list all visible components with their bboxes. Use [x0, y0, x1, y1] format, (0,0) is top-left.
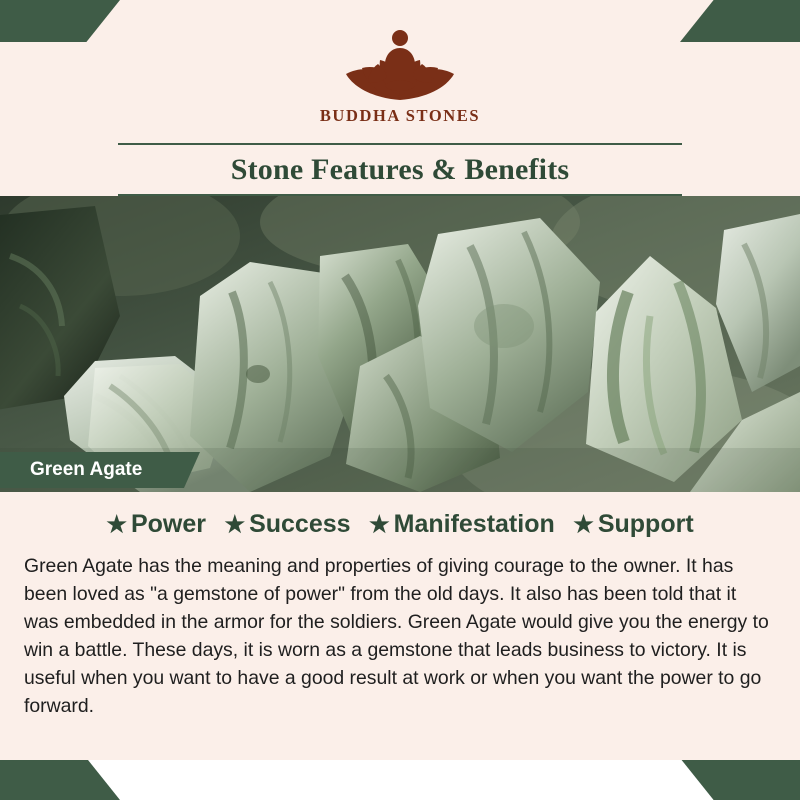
- corner-decoration-bottom-left: [0, 758, 120, 800]
- stone-name-label: Green Agate: [30, 459, 142, 481]
- page-title: Stone Features & Benefits: [231, 153, 570, 187]
- promo-card: BUDDHA STONES Stone Features & Benefits: [0, 0, 800, 800]
- green-agate-stones-illustration: [0, 196, 800, 492]
- star-icon: ★: [369, 511, 390, 537]
- corner-decoration-bottom-right: [680, 758, 800, 800]
- stone-description: Green Agate has the meaning and properti…: [24, 553, 776, 721]
- content-block: ★Power ★Success ★Manifestation ★Support …: [0, 492, 800, 760]
- benefit-label: Manifestation: [394, 510, 555, 538]
- stone-name-tag: Green Agate: [0, 452, 200, 488]
- star-icon: ★: [573, 511, 594, 537]
- lotus-meditation-icon: [340, 26, 460, 104]
- benefit-item-power: ★Power: [106, 510, 206, 539]
- benefit-label: Support: [598, 510, 694, 538]
- benefit-label: Power: [131, 510, 206, 538]
- benefit-item-support: ★Support: [573, 510, 693, 539]
- brand-name: BUDDHA STONES: [0, 106, 800, 126]
- section-title-bar: Stone Features & Benefits: [118, 143, 682, 196]
- benefit-label: Success: [249, 510, 350, 538]
- star-icon: ★: [106, 511, 127, 537]
- brand-logo: BUDDHA STONES: [0, 26, 800, 126]
- benefit-item-success: ★Success: [224, 510, 350, 539]
- star-icon: ★: [224, 511, 245, 537]
- benefit-item-manifestation: ★Manifestation: [369, 510, 555, 539]
- product-photo: [0, 196, 800, 492]
- benefits-list: ★Power ★Success ★Manifestation ★Support: [0, 510, 800, 539]
